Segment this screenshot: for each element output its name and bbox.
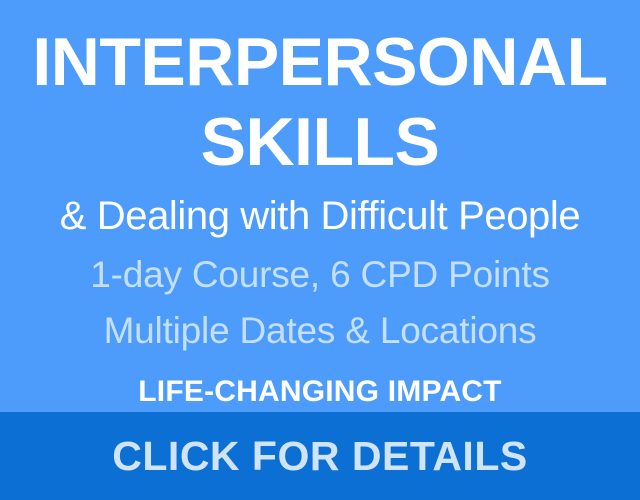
headline-line-2: SKILLS: [201, 102, 440, 182]
call-to-action-bar[interactable]: CLICK FOR DETAILS: [0, 412, 640, 500]
cta-label: CLICK FOR DETAILS: [112, 432, 527, 480]
ad-message-block: INTERPERSONAL SKILLS & Dealing with Diff…: [0, 0, 640, 412]
headline-line-1: INTERPERSONAL: [32, 22, 607, 102]
impact-tagline: LIFE-CHANGING IMPACT: [138, 374, 501, 410]
course-detail-dates-locations: Multiple Dates & Locations: [104, 308, 537, 354]
advertisement-banner[interactable]: INTERPERSONAL SKILLS & Dealing with Diff…: [0, 0, 640, 500]
subheadline: & Dealing with Difficult People: [60, 192, 580, 240]
course-detail-duration-cpd: 1-day Course, 6 CPD Points: [90, 252, 550, 298]
